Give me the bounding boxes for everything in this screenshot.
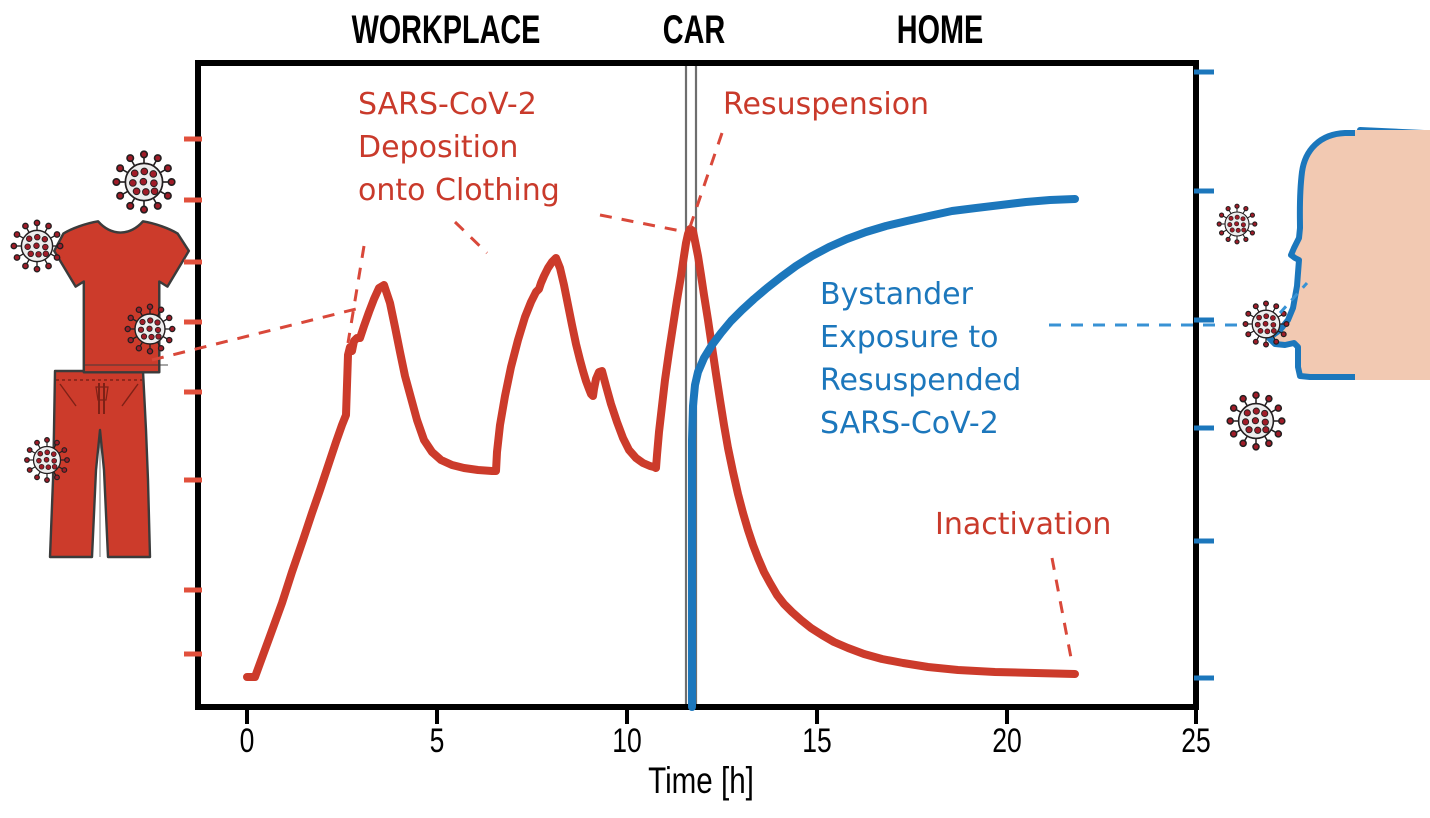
- stage-label-car: CAR: [579, 8, 809, 53]
- virus-particle-icon: [11, 220, 63, 272]
- head-profile-icon: [1269, 130, 1430, 380]
- figure-canvas: [0, 0, 1430, 818]
- x-tick-label-0: 0: [200, 722, 294, 761]
- stage-label-workplace: WORKPLACE: [331, 8, 561, 53]
- x-tick-label-15: 15: [770, 722, 864, 761]
- virus-particle-icon: [113, 151, 175, 213]
- virus-particle-icon: [1227, 392, 1285, 450]
- stage-label-home: HOME: [825, 8, 1055, 53]
- bystander-annotation: Bystander Exposure to Resuspended SARS-C…: [820, 274, 1021, 446]
- x-tick-label-5: 5: [390, 722, 484, 761]
- inactivation-annotation: Inactivation: [935, 504, 1111, 547]
- x-tick-label-20: 20: [960, 722, 1054, 761]
- virus-particle-icon: [1217, 204, 1257, 244]
- x-tick-label-10: 10: [580, 722, 674, 761]
- x-axis-title: Time [h]: [549, 760, 853, 802]
- scrubs-icon: [50, 221, 189, 560]
- x-tick-label-25: 25: [1149, 722, 1243, 761]
- resuspension-annotation: Resuspension: [723, 84, 929, 127]
- deposition-annotation: SARS-CoV-2 Deposition onto Clothing: [358, 84, 560, 213]
